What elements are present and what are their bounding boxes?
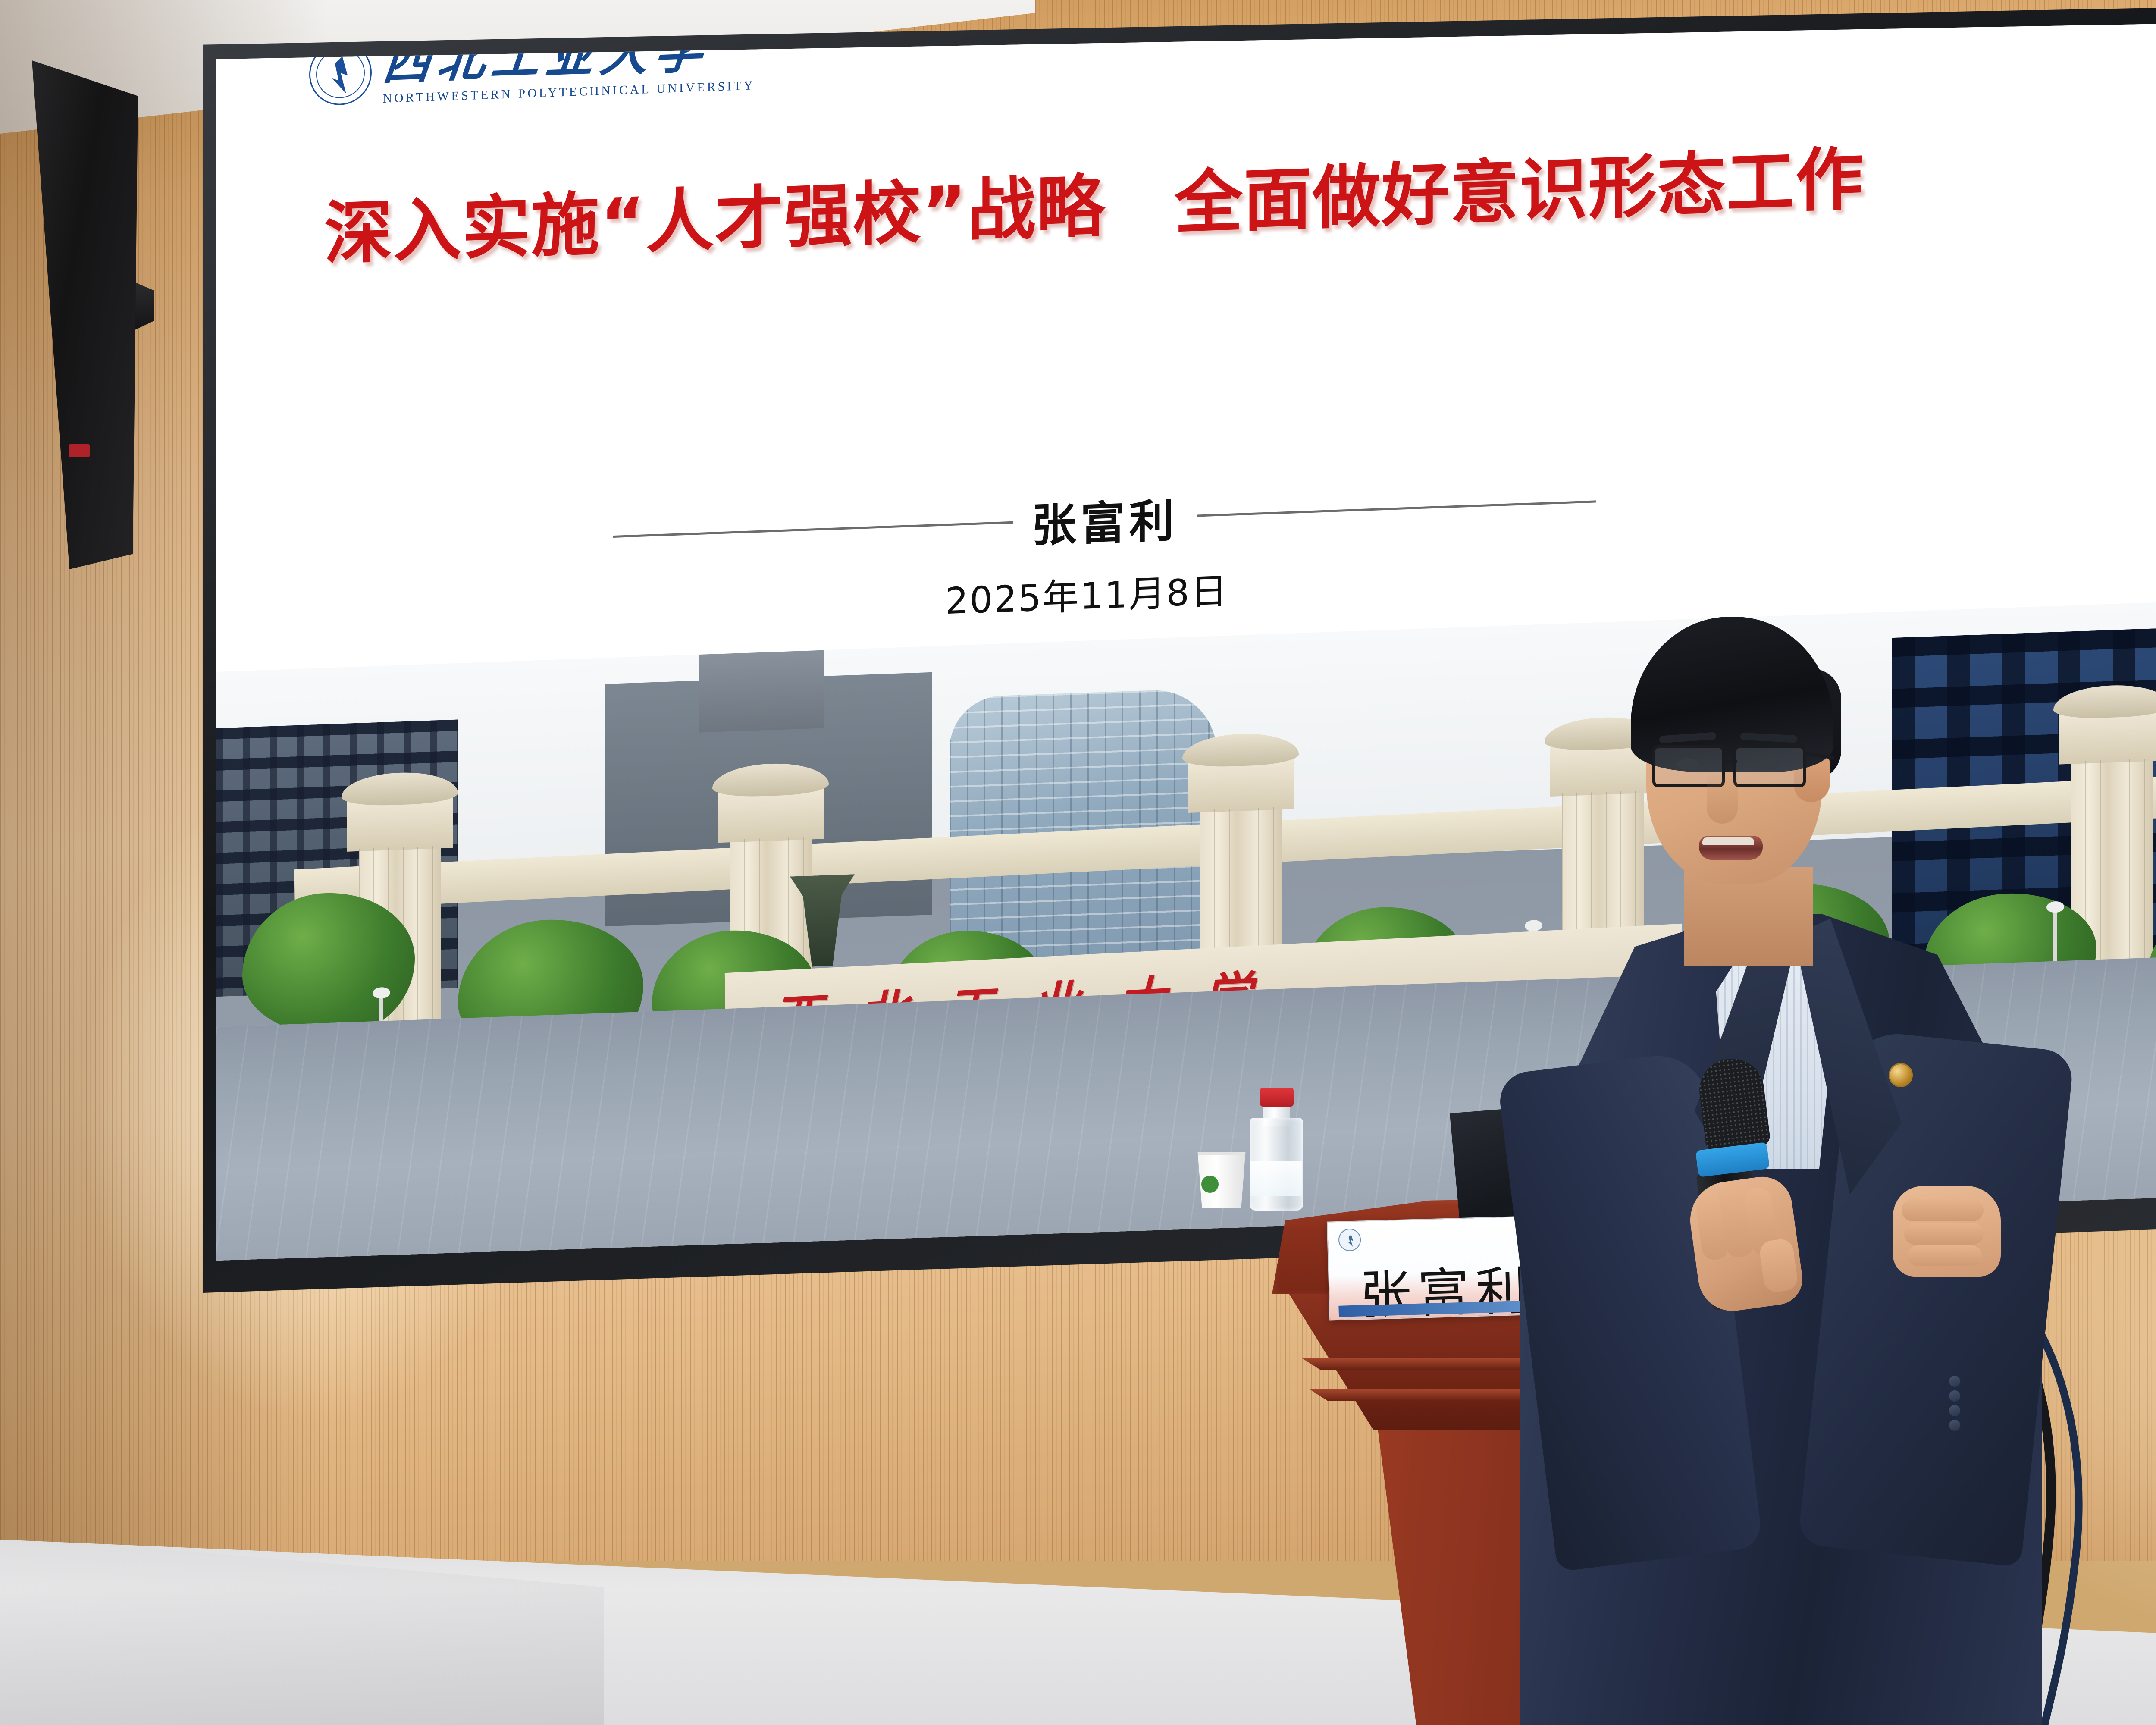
hand-on-podium <box>1893 1186 2001 1276</box>
slide-title: 深入实施“人才强校”战略 全面做好意识形态工作 <box>324 123 2156 273</box>
logo-chinese-name: 西北工业大学 <box>380 25 758 87</box>
presentation-date: 2025年11月8日 <box>945 562 1228 624</box>
speaker-brand-badge-icon <box>69 444 90 457</box>
bottle-cap <box>1260 1088 1294 1107</box>
podium-nameplate: 张富利 <box>1327 1216 1532 1320</box>
lapel-pin-icon <box>1889 1063 1913 1087</box>
divider-right <box>1197 500 1597 517</box>
eyeglasses-lens-right <box>1733 745 1806 787</box>
teeth <box>1702 837 1754 845</box>
eyeglasses-bridge <box>1724 760 1737 763</box>
lecture-hall-scene: 西北工业大学 NORTHWESTERN POLYTECHNICAL UNIVER… <box>0 0 2156 1725</box>
presenter-person <box>1591 617 2044 1725</box>
presenter-row: 张富利 <box>613 469 1596 569</box>
divider-left <box>613 521 1013 538</box>
bottle-label <box>1250 1161 1302 1196</box>
sleeve-buttons <box>1949 1376 1960 1440</box>
nameplate-name: 张富利 <box>1359 1248 1534 1328</box>
nose <box>1707 772 1738 824</box>
cup-logo-icon <box>1201 1176 1219 1193</box>
npu-crest-icon <box>1338 1228 1361 1251</box>
photo-building-grey-top <box>699 646 824 733</box>
presenter-name: 张富利 <box>1032 484 1178 555</box>
hand-holding-microphone <box>1685 1173 1805 1315</box>
